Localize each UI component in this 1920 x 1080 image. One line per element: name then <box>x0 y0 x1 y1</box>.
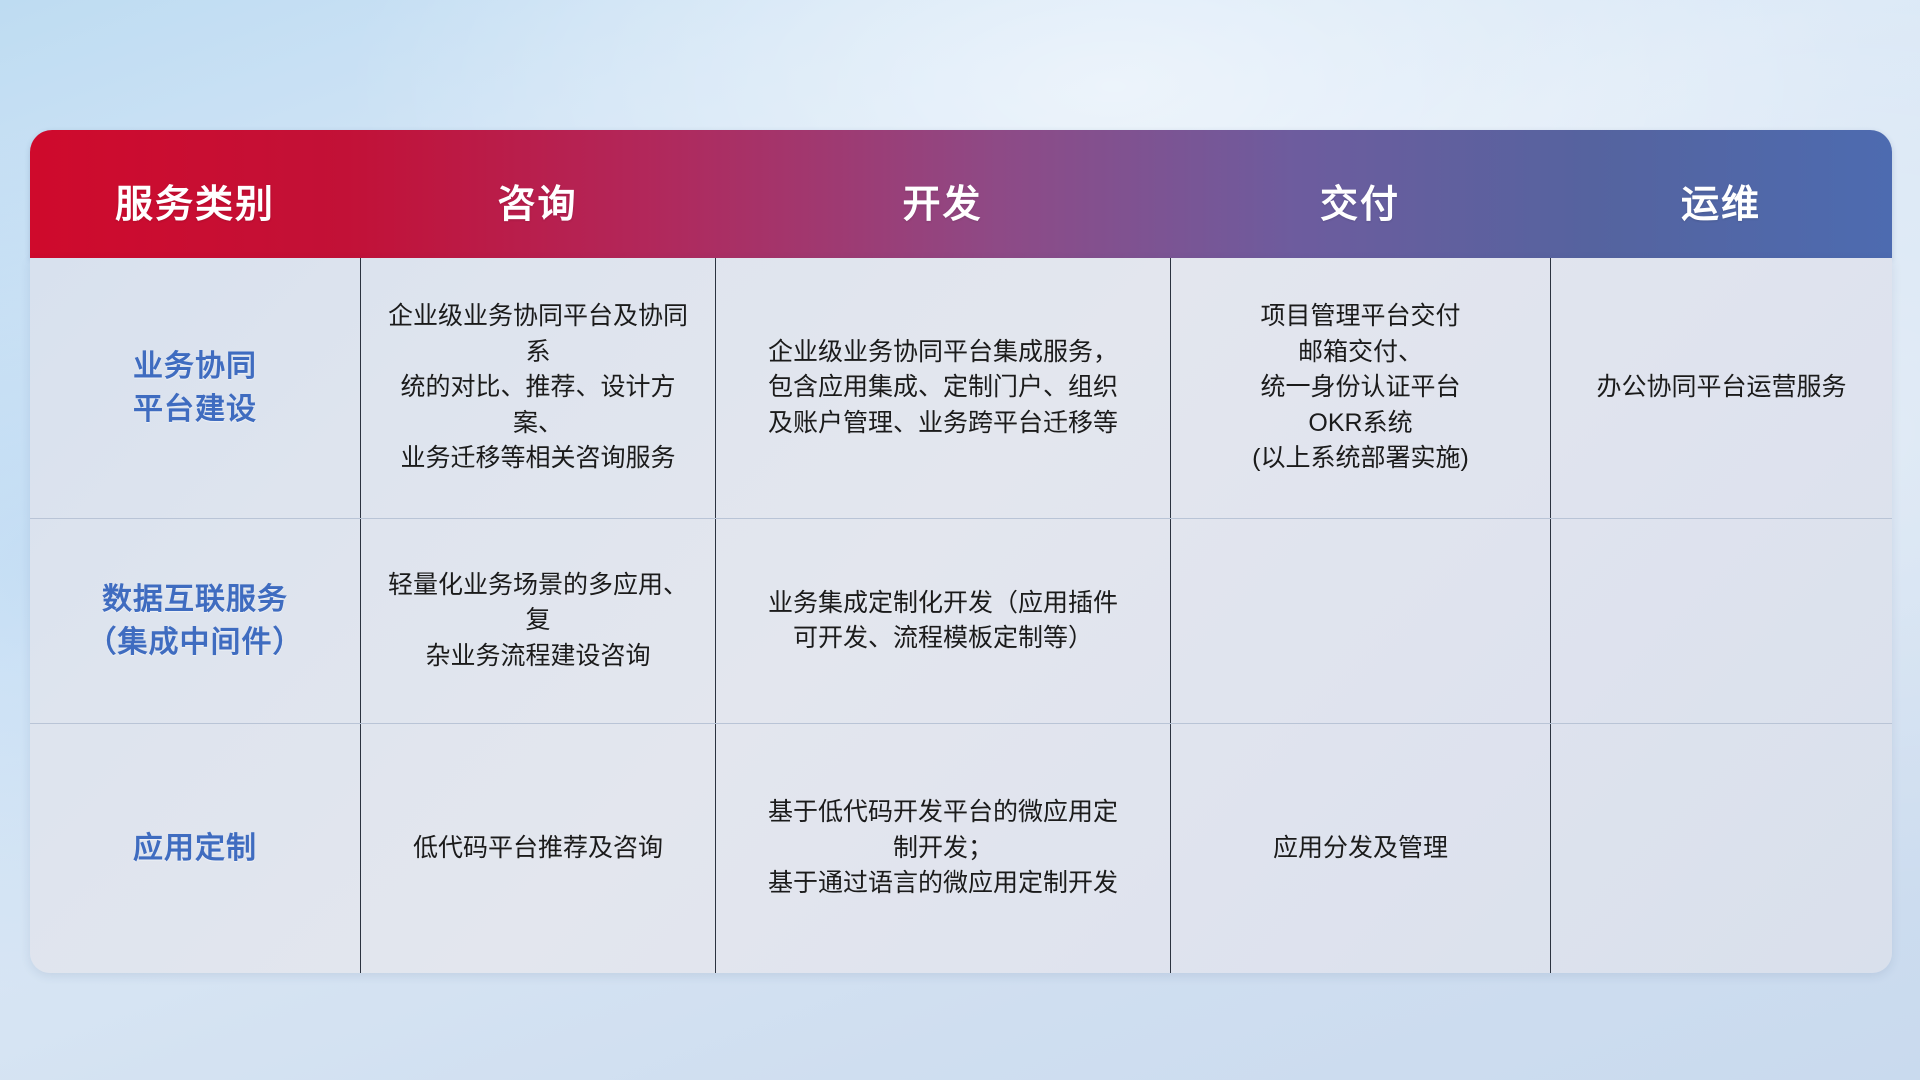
table-row: 应用定制 低代码平台推荐及咨询 基于低代码开发平台的微应用定 制开发； 基于通过… <box>30 723 1892 973</box>
cell-delivery: 项目管理平台交付 邮箱交付、 统一身份认证平台 OKR系统 (以上系统部署实施) <box>1170 258 1550 518</box>
row-category-label: 数据互联服务 （集成中间件） <box>30 519 360 723</box>
column-header-category: 服务类别 <box>30 130 360 258</box>
table-header-row: 服务类别 咨询 开发 交付 运维 <box>30 130 1892 258</box>
cell-development: 业务集成定制化开发（应用插件 可开发、流程模板定制等） <box>715 519 1170 723</box>
column-header-delivery: 交付 <box>1170 130 1550 258</box>
cell-consulting: 企业级业务协同平台及协同系 统的对比、推荐、设计方案、 业务迁移等相关咨询服务 <box>360 258 715 518</box>
table-body: 业务协同 平台建设 企业级业务协同平台及协同系 统的对比、推荐、设计方案、 业务… <box>30 258 1892 973</box>
service-matrix-table: 服务类别 咨询 开发 交付 运维 业务协同 平台建设 企业级业务协同平台及协同系… <box>30 130 1892 973</box>
column-header-consulting: 咨询 <box>360 130 715 258</box>
cell-consulting: 低代码平台推荐及咨询 <box>360 724 715 973</box>
cell-delivery: 应用分发及管理 <box>1170 724 1550 973</box>
cell-delivery <box>1170 519 1550 723</box>
table-row: 业务协同 平台建设 企业级业务协同平台及协同系 统的对比、推荐、设计方案、 业务… <box>30 258 1892 518</box>
cell-operations <box>1550 519 1892 723</box>
column-header-development: 开发 <box>715 130 1170 258</box>
column-header-operations: 运维 <box>1550 130 1892 258</box>
cell-development: 基于低代码开发平台的微应用定 制开发； 基于通过语言的微应用定制开发 <box>715 724 1170 973</box>
row-category-label: 业务协同 平台建设 <box>30 258 360 518</box>
cell-operations: 办公协同平台运营服务 <box>1550 258 1892 518</box>
table-row: 数据互联服务 （集成中间件） 轻量化业务场景的多应用、复 杂业务流程建设咨询 业… <box>30 518 1892 723</box>
row-category-label: 应用定制 <box>30 724 360 973</box>
cell-consulting: 轻量化业务场景的多应用、复 杂业务流程建设咨询 <box>360 519 715 723</box>
cell-operations <box>1550 724 1892 973</box>
cell-development: 企业级业务协同平台集成服务， 包含应用集成、定制门户、组织 及账户管理、业务跨平… <box>715 258 1170 518</box>
